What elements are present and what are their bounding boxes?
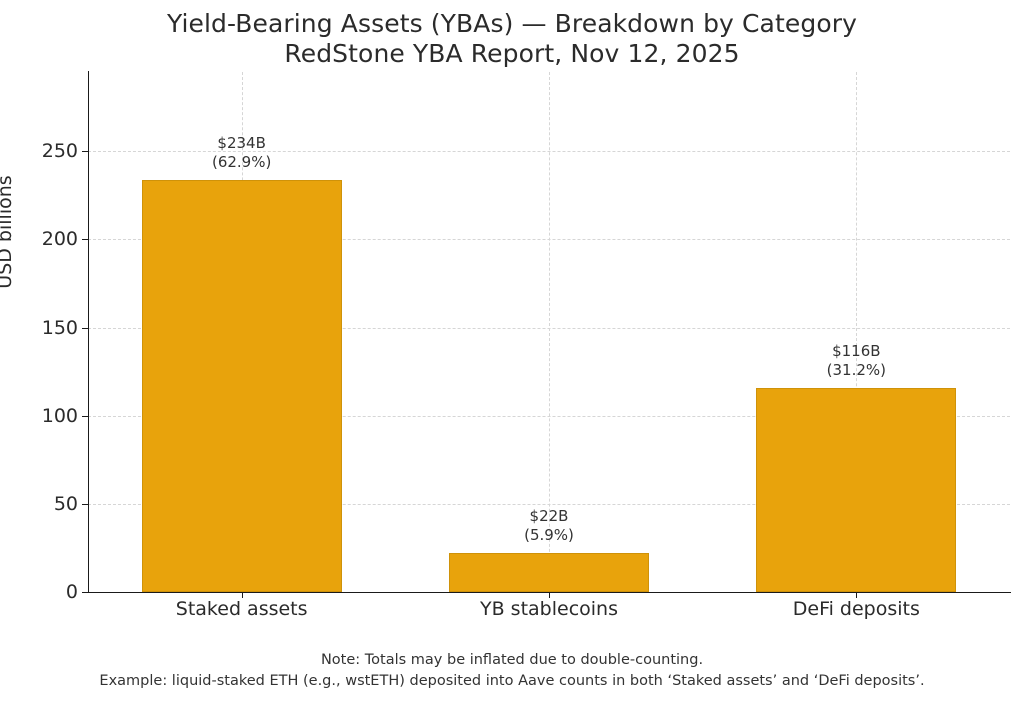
bar-value-percent: (62.9%) bbox=[212, 153, 271, 172]
bar bbox=[756, 388, 956, 592]
x-tick-mark bbox=[856, 592, 857, 598]
x-tick-mark bbox=[242, 592, 243, 598]
y-tick-label: 0 bbox=[66, 581, 78, 603]
y-tick-mark bbox=[82, 592, 89, 593]
y-tick-label: 100 bbox=[42, 405, 78, 427]
chart-figure: Yield-Bearing Assets (YBAs) — Breakdown … bbox=[0, 0, 1024, 701]
y-axis-spine bbox=[88, 71, 89, 593]
footnote-line-2: Example: liquid-staked ETH (e.g., wstETH… bbox=[0, 671, 1024, 692]
chart-footnote: Note: Totals may be inflated due to doub… bbox=[0, 650, 1024, 692]
bar-value-amount: $22B bbox=[524, 507, 574, 526]
y-tick-mark bbox=[82, 239, 89, 240]
chart-title-line-1: Yield-Bearing Assets (YBAs) — Breakdown … bbox=[0, 9, 1024, 39]
bar-value-amount: $234B bbox=[212, 134, 271, 153]
chart-title: Yield-Bearing Assets (YBAs) — Breakdown … bbox=[0, 9, 1024, 69]
footnote-line-1: Note: Totals may be inflated due to doub… bbox=[0, 650, 1024, 671]
x-tick-label: DeFi deposits bbox=[793, 598, 920, 620]
x-tick-label: Staked assets bbox=[176, 598, 308, 620]
bar bbox=[142, 180, 342, 592]
y-tick-label: 50 bbox=[54, 493, 78, 515]
bar-value-percent: (5.9%) bbox=[524, 526, 574, 545]
x-tick-label: YB stablecoins bbox=[480, 598, 618, 620]
bar-value-amount: $116B bbox=[827, 342, 886, 361]
y-tick-mark bbox=[82, 416, 89, 417]
chart-title-line-2: RedStone YBA Report, Nov 12, 2025 bbox=[0, 39, 1024, 69]
y-tick-mark bbox=[82, 504, 89, 505]
y-tick-label: 200 bbox=[42, 228, 78, 250]
y-tick-label: 250 bbox=[42, 140, 78, 162]
bar bbox=[449, 553, 649, 592]
y-tick-mark bbox=[82, 328, 89, 329]
y-tick-mark bbox=[82, 151, 89, 152]
bar-value-label: $234B(62.9%) bbox=[212, 134, 271, 172]
bar-value-percent: (31.2%) bbox=[827, 361, 886, 380]
y-axis-ticks: 050100150200250 bbox=[0, 0, 78, 701]
x-tick-mark bbox=[549, 592, 550, 598]
bar-value-label: $116B(31.2%) bbox=[827, 342, 886, 380]
y-tick-label: 150 bbox=[42, 317, 78, 339]
bar-value-label: $22B(5.9%) bbox=[524, 507, 574, 545]
